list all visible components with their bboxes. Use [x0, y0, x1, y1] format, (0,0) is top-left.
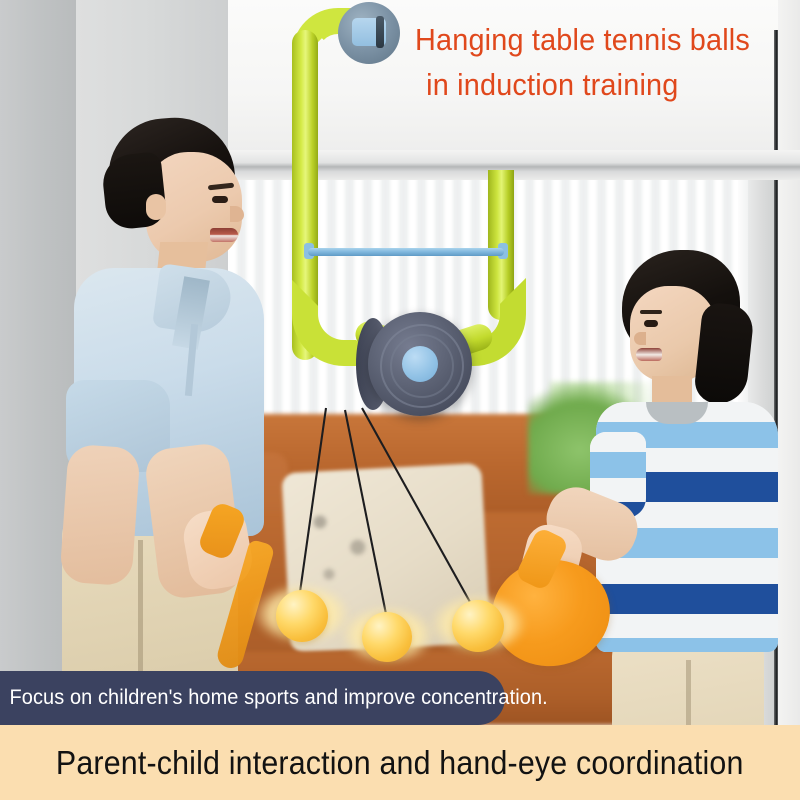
boy-hair-side [693, 302, 755, 407]
table-tennis-ball [452, 600, 504, 652]
boy-eyebrow [640, 310, 662, 314]
adult-mouth [210, 228, 238, 242]
footer-banner: Parent-child interaction and hand-eye co… [0, 725, 800, 800]
shirt-stripe [590, 452, 646, 478]
adult-eye [212, 196, 228, 203]
footer-text: Parent-child interaction and hand-eye co… [56, 744, 744, 782]
shirt-stripe [590, 432, 646, 452]
product-poster: Hanging table tennis balls in induction … [0, 0, 800, 800]
caption-pill: Focus on children's home sports and impr… [0, 671, 505, 725]
shirt-stripe [596, 614, 778, 638]
wall-right [778, 0, 800, 725]
adult-ear [146, 194, 166, 220]
boy-mouth [636, 348, 662, 361]
caption-text: Focus on children's home sports and impr… [0, 686, 548, 710]
shirt-stripe [596, 584, 778, 614]
table-tennis-ball [362, 612, 412, 662]
blue-crossbar [308, 248, 504, 256]
boy-figure [590, 250, 780, 725]
adult-nose [230, 206, 244, 222]
headline-line-2: in induction training [415, 63, 764, 108]
headline-line-1: Hanging table tennis balls [415, 18, 764, 63]
adult-arm-left [59, 444, 140, 587]
shirt-stripe [596, 638, 778, 652]
boy-pants-seam [686, 660, 691, 725]
photo-scene [0, 0, 800, 725]
shirt-stripe [596, 558, 778, 584]
wall-mount-slot [376, 16, 384, 48]
boy-eye [644, 320, 658, 327]
headline: Hanging table tennis balls in induction … [415, 18, 764, 108]
table-tennis-ball [276, 590, 328, 642]
boy-nose [634, 332, 646, 345]
hub-center-button [402, 346, 438, 382]
